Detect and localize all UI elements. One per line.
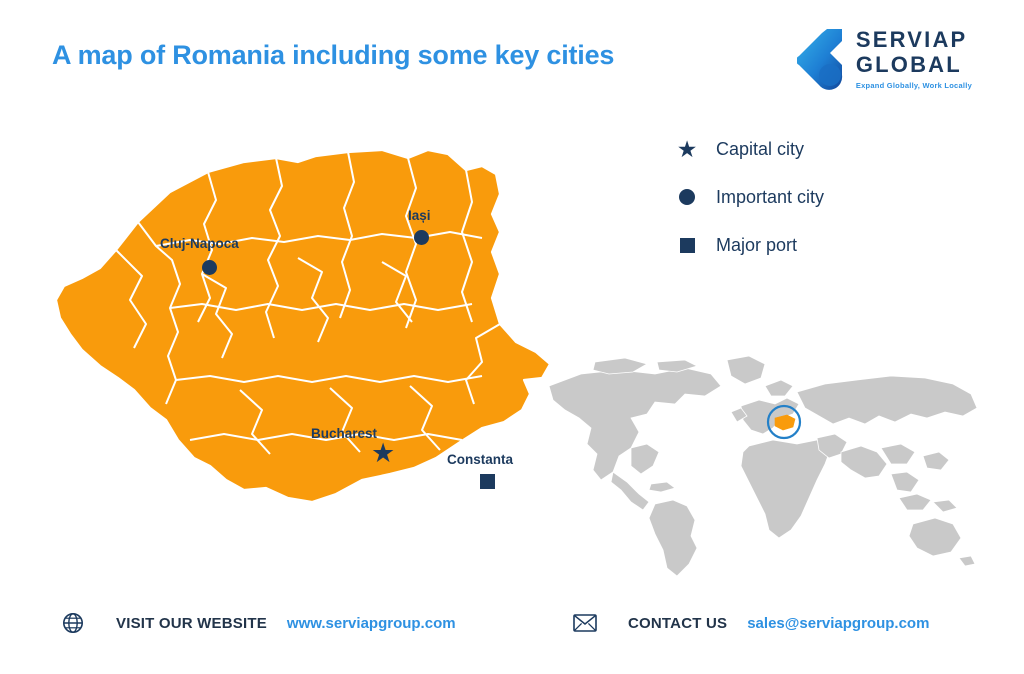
romania-map[interactable]: Cluj-Napoca Iași Bucharest ★ Constanta	[30, 128, 590, 528]
envelope-icon	[570, 608, 600, 638]
logo-tagline: Expand Globally, Work Locally	[856, 82, 972, 90]
world-map-svg	[535, 352, 995, 587]
city-marker-cluj-napoca[interactable]	[202, 260, 217, 275]
globe-icon	[58, 608, 88, 638]
logo-wordmark: SERVIAP GLOBAL Expand Globally, Work Loc…	[856, 29, 972, 90]
legend-item-major-port[interactable]: Major port	[676, 232, 824, 258]
footer-website-link[interactable]: www.serviapgroup.com	[287, 615, 456, 632]
footer-contact-caption: CONTACT US	[628, 615, 727, 632]
circle-icon	[676, 189, 698, 205]
city-marker-constanta[interactable]	[480, 474, 495, 489]
world-map-inset[interactable]	[535, 352, 995, 587]
star-icon: ★	[676, 138, 698, 161]
city-label-bucharest: Bucharest	[311, 426, 377, 441]
footer: VISIT OUR WEBSITE www.serviapgroup.com C…	[0, 608, 1024, 658]
romania-outline	[56, 150, 550, 502]
footer-website-caption: VISIT OUR WEBSITE	[116, 615, 267, 632]
logo-line-1: SERVIAP	[856, 29, 972, 51]
footer-contact-link[interactable]: sales@serviapgroup.com	[747, 615, 929, 632]
romania-counties	[56, 150, 550, 502]
map-legend: ★ Capital city Important city Major port	[676, 136, 824, 258]
legend-label-capital-city: Capital city	[716, 139, 804, 160]
footer-contact-group[interactable]: CONTACT US sales@serviapgroup.com	[570, 608, 929, 638]
legend-label-major-port: Major port	[716, 235, 797, 256]
footer-website-group[interactable]: VISIT OUR WEBSITE www.serviapgroup.com	[58, 608, 456, 638]
brand-logo: SERVIAP GLOBAL Expand Globally, Work Loc…	[797, 28, 972, 90]
city-label-iasi: Iași	[408, 208, 431, 223]
city-label-constanta: Constanta	[447, 452, 513, 467]
city-marker-bucharest[interactable]: ★	[371, 440, 395, 467]
city-label-cluj-napoca: Cluj-Napoca	[160, 236, 239, 251]
world-landmasses	[549, 356, 977, 576]
legend-item-capital-city[interactable]: ★ Capital city	[676, 136, 824, 162]
romania-map-svg	[30, 128, 590, 528]
serviap-chevron-logo-icon	[797, 28, 845, 90]
square-icon	[676, 238, 698, 253]
legend-label-important-city: Important city	[716, 187, 824, 208]
legend-item-important-city[interactable]: Important city	[676, 184, 824, 210]
city-marker-iasi[interactable]	[414, 230, 429, 245]
logo-line-2: GLOBAL	[856, 54, 972, 76]
page-title: A map of Romania including some key citi…	[52, 40, 614, 71]
